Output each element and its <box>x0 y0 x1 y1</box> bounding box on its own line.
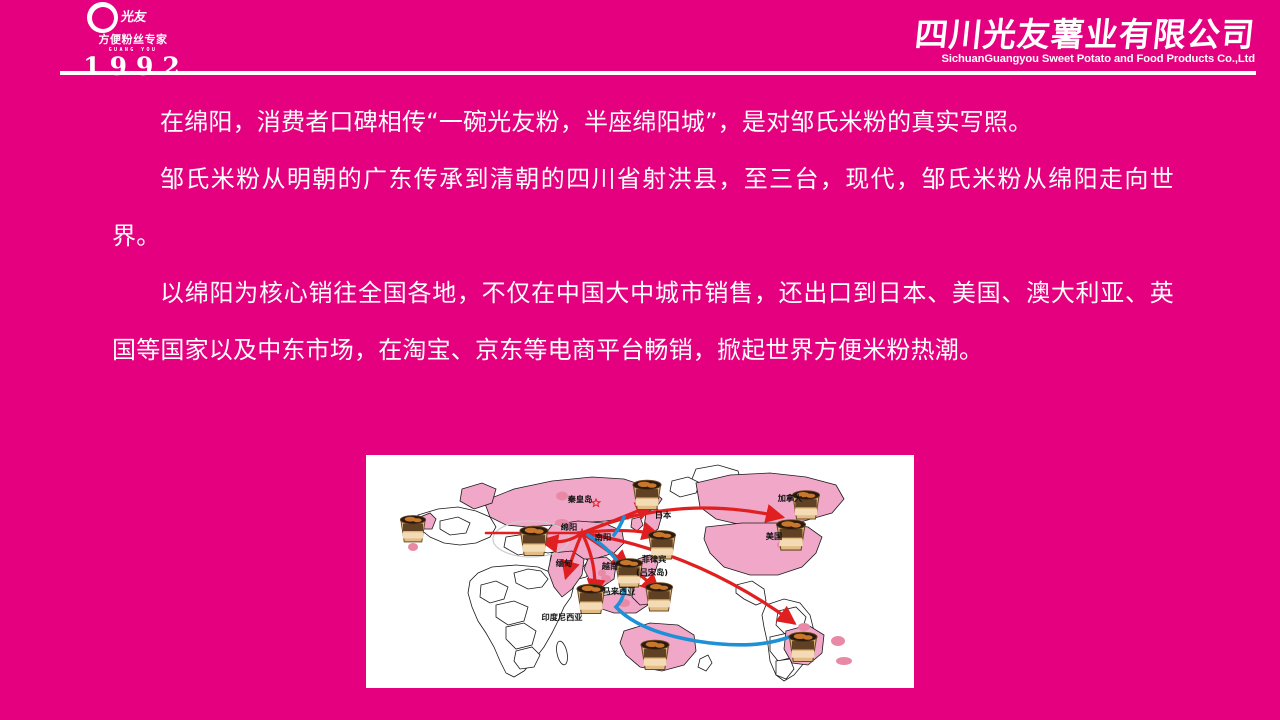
cup-australia-icon <box>641 640 669 669</box>
label-usa: 美国 <box>766 531 782 541</box>
logo-tagline-cn: 方便粉丝专家 <box>99 34 168 46</box>
slide-body-text: 在绵阳，消费者口碑相传“一碗光友粉，半座绵阳城”，是对邹氏米粉的真实写照。 邹氏… <box>112 94 1174 379</box>
logo-wordmark: 光友 <box>120 11 147 24</box>
logo-founding-year: 1992 <box>77 54 189 80</box>
cup-qinhuangdao-icon <box>633 480 661 509</box>
cup-malaysia-icon <box>645 583 672 611</box>
label-malaysia: 马来西亚 <box>603 586 636 596</box>
guangyou-logo-icon: 光友 <box>87 2 179 33</box>
brand-logo-block: 光友 方便粉丝专家 GUANG YOU 1992 <box>58 2 208 74</box>
header-divider-rule <box>60 71 1256 75</box>
label-qinhuangdao: 秦皇岛 <box>567 494 593 504</box>
paragraph-1: 在绵阳，消费者口碑相传“一碗光友粉，半座绵阳城”，是对邹氏米粉的真实写照。 <box>112 94 1174 151</box>
company-name-en: SichuanGuangyou Sweet Potato and Food Pr… <box>835 53 1255 65</box>
paragraph-3: 以绵阳为核心销往全国各地，不仅在中国大中城市销售，还出口到日本、美国、澳大利亚、… <box>112 265 1174 379</box>
logo-face-shape <box>97 9 112 28</box>
paragraph-2: 邹氏米粉从明朝的广东传承到清朝的四川省射洪县，至三台，现代，邹氏米粉从绵阳走向世… <box>112 151 1174 265</box>
logo-ring-shape <box>87 2 118 33</box>
cup-uk-icon <box>400 516 425 542</box>
label-vietnam: 越南 <box>601 561 618 571</box>
company-name-cn: 四川光友薯业有限公司 <box>833 18 1257 52</box>
label-myanmar: 缅甸 <box>556 558 572 568</box>
label-philippines: 菲律宾 <box>642 554 667 564</box>
cup-indonesia-icon <box>577 584 605 613</box>
label-luzon: (吕宋岛) <box>636 567 668 577</box>
map-svg-canvas: 秦皇岛 绵阳 南阳 日本 菲律宾 (吕宋岛) 马来西亚 印度尼西亚 缅甸 越南 … <box>366 455 914 688</box>
label-mianyang: 绵阳 <box>561 522 577 532</box>
company-name-block: 四川光友薯业有限公司 SichuanGuangyou Sweet Potato … <box>835 18 1255 65</box>
world-distribution-map: 秦皇岛 绵阳 南阳 日本 菲律宾 (吕宋岛) 马来西亚 印度尼西亚 缅甸 越南 … <box>366 455 914 688</box>
label-canada: 加拿大 <box>777 493 803 503</box>
cup-brazil-icon <box>789 632 817 661</box>
label-japan: 日本 <box>655 510 672 520</box>
label-nanyang: 南阳 <box>595 532 611 542</box>
label-indonesia: 印度尼西亚 <box>542 612 583 622</box>
cup-mideast-icon <box>520 526 548 555</box>
slide-header: 光友 方便粉丝专家 GUANG YOU 1992 四川光友薯业有限公司 Sich… <box>0 0 1280 82</box>
